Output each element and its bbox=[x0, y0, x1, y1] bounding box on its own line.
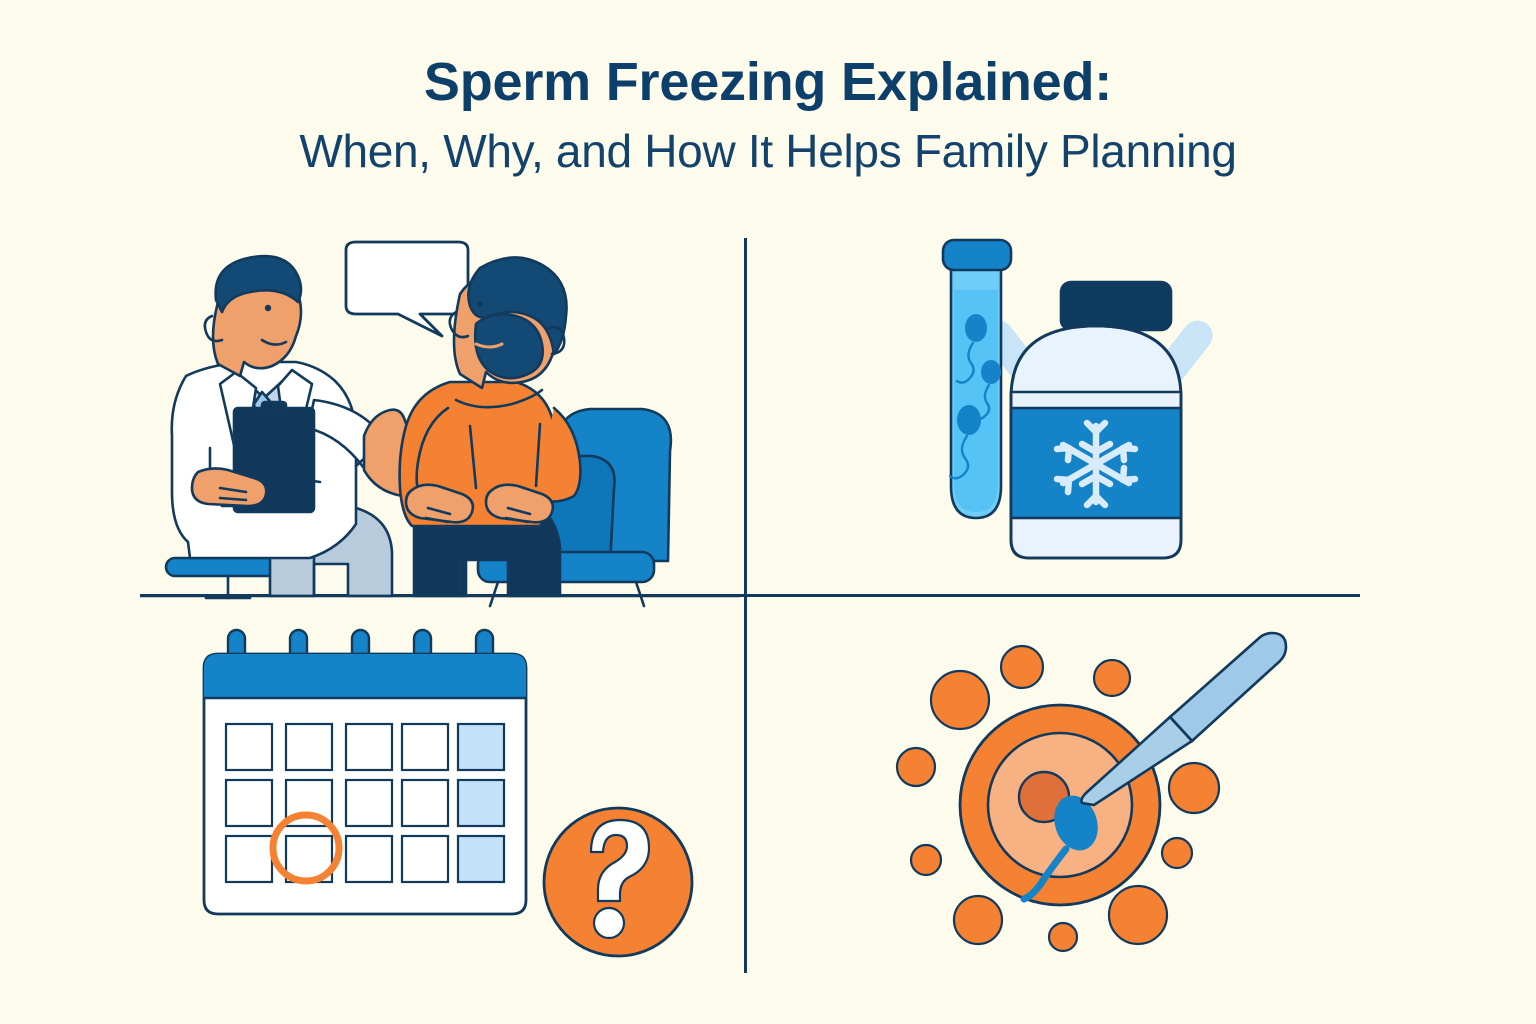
cryo-tank bbox=[1011, 282, 1181, 558]
calendar-cell bbox=[346, 780, 392, 826]
infographic-page: Sperm Freezing Explained: When, Why, and… bbox=[0, 0, 1536, 1024]
calendar-cells bbox=[226, 724, 504, 882]
panel-fertilization bbox=[880, 615, 1330, 975]
page-subtitle: When, Why, and How It Helps Family Plann… bbox=[0, 124, 1536, 178]
calendar-cell bbox=[346, 724, 392, 770]
calendar-cell-weekend bbox=[458, 780, 504, 826]
calendar-cell bbox=[226, 724, 272, 770]
calendar-cell bbox=[226, 836, 272, 882]
question-badge bbox=[544, 808, 692, 956]
calendar-cell bbox=[402, 780, 448, 826]
doctor-head bbox=[205, 256, 301, 376]
calendar-cell bbox=[286, 724, 332, 770]
calendar-cell bbox=[346, 836, 392, 882]
calendar-cell bbox=[402, 836, 448, 882]
calendar-cell-weekend bbox=[458, 836, 504, 882]
vertical-divider bbox=[744, 238, 747, 973]
test-tube bbox=[943, 240, 1011, 518]
page-header: Sperm Freezing Explained: When, Why, and… bbox=[0, 0, 1536, 178]
page-title: Sperm Freezing Explained: bbox=[0, 52, 1536, 114]
panel-timing bbox=[190, 620, 700, 930]
panel-consultation bbox=[150, 240, 730, 590]
calendar-cell bbox=[226, 780, 272, 826]
calendar-cell-weekend bbox=[458, 724, 504, 770]
panel-cryostorage bbox=[905, 230, 1285, 590]
calendar-cell bbox=[402, 724, 448, 770]
